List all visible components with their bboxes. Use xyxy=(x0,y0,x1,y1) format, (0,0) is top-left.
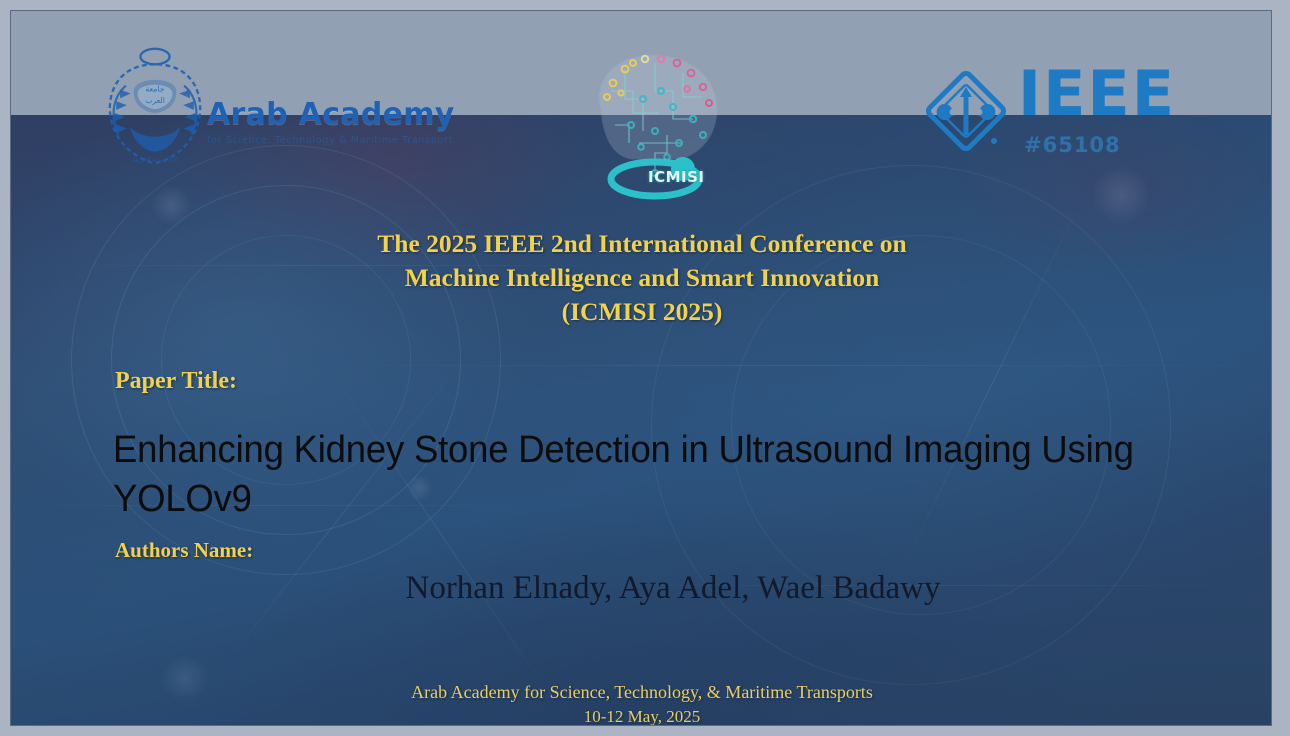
slide-footer: Arab Academy for Science, Technology, & … xyxy=(11,679,1272,726)
conference-title-line-1: The 2025 IEEE 2nd International Conferen… xyxy=(11,227,1272,261)
conference-title: The 2025 IEEE 2nd International Conferen… xyxy=(11,227,1272,329)
presentation-slide: جامعة العرب الأكاديمية العربية Arab Acad… xyxy=(10,10,1272,726)
paper-title-label: Paper Title: xyxy=(115,368,237,395)
authors-label: Authors Name: xyxy=(115,538,253,563)
slide-content: The 2025 IEEE 2nd International Conferen… xyxy=(11,11,1271,725)
authors-names: Norhan Elnady, Aya Adel, Wael Badawy xyxy=(11,570,1272,607)
conference-title-line-2: Machine Intelligence and Smart Innovatio… xyxy=(11,261,1272,295)
footer-venue: Arab Academy for Science, Technology, & … xyxy=(11,679,1272,705)
conference-title-line-3: (ICMISI 2025) xyxy=(11,295,1272,329)
footer-date: 10-12 May, 2025 xyxy=(11,705,1272,726)
paper-title: Enhancing Kidney Stone Detection in Ultr… xyxy=(113,426,1179,524)
